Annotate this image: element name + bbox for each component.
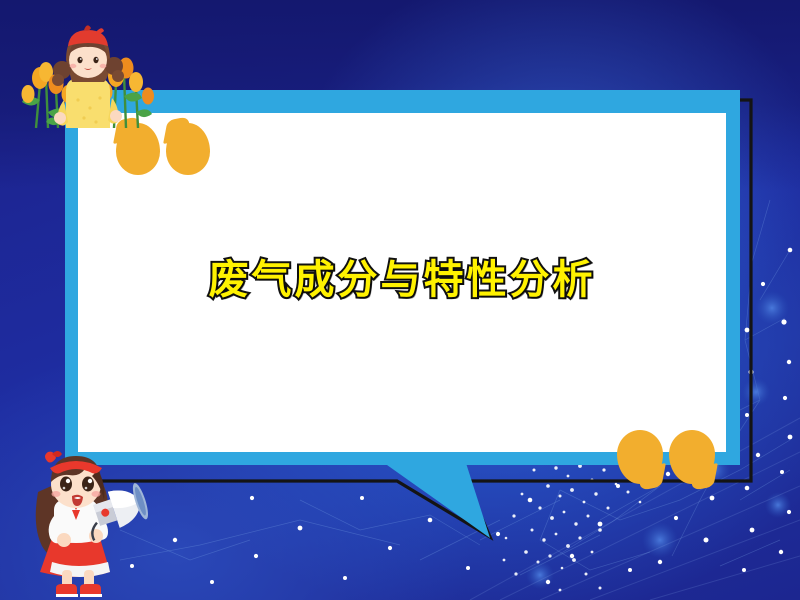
speech-bubble-tail	[370, 460, 510, 545]
megaphone-girl-illustration	[8, 440, 148, 600]
flower-girl-illustration	[18, 8, 158, 128]
quote-close-icon	[617, 430, 715, 484]
quote-open-icon	[116, 123, 210, 175]
slide-canvas: 废气成分与特性分析	[0, 0, 800, 600]
page-title: 废气成分与特性分析	[78, 258, 726, 302]
